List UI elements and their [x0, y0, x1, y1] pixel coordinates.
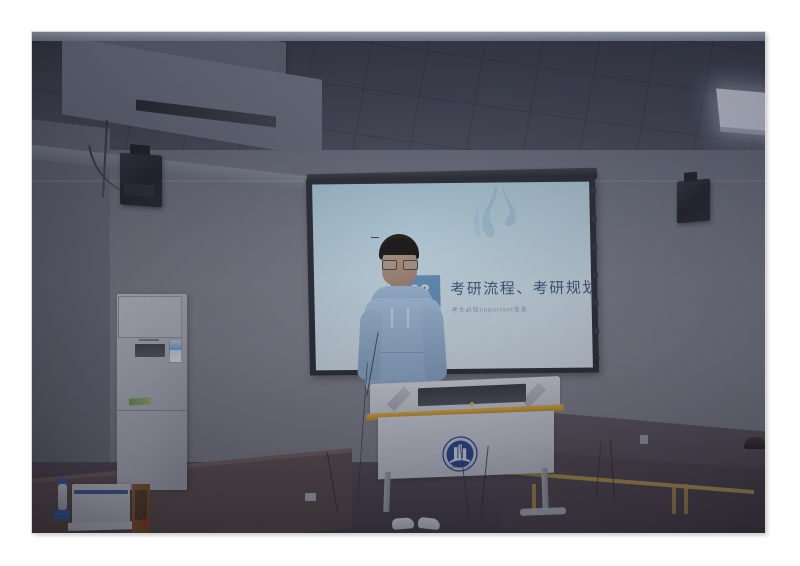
eyeglasses-icon — [382, 260, 418, 268]
air-conditioner-unit — [117, 294, 187, 490]
security-camera-icon — [744, 437, 765, 449]
hoodie-pocket — [381, 352, 423, 369]
desk-leg — [672, 484, 676, 514]
lectern: UNIVERSITY — [370, 380, 560, 480]
speaker-right — [677, 179, 710, 224]
eyeglasses-bridge — [371, 237, 379, 238]
presenter-arm-right — [421, 307, 448, 380]
lectern-leg — [541, 468, 548, 510]
air-conditioner-label-strip — [139, 339, 159, 341]
classroom-scene: 03 考研流程、考研规划 考生必知important信息 — [32, 32, 765, 533]
red-object — [142, 519, 150, 526]
slide-subtitle: 考生必知important信息 — [452, 304, 528, 314]
ceiling-top-strip — [32, 32, 765, 41]
energy-label-sticker — [169, 339, 182, 363]
desk-leg — [684, 484, 688, 514]
green-sticker — [129, 397, 151, 405]
speaker-grille-icon — [124, 183, 154, 197]
speaker-bracket-icon — [684, 172, 697, 182]
presenter — [357, 234, 449, 384]
air-conditioner-seam — [117, 410, 187, 411]
hoodie-drawstring — [407, 308, 409, 328]
left-wall — [32, 119, 110, 509]
hoodie-drawstring — [391, 308, 393, 328]
air-conditioner-display — [135, 344, 165, 357]
speaker-bracket-icon — [130, 144, 150, 155]
screen-surface: 03 考研流程、考研规划 考生必知important信息 — [312, 182, 593, 371]
photo-page: 03 考研流程、考研规划 考生必知important信息 — [0, 0, 800, 566]
ink-wash-decoration-icon — [457, 186, 538, 249]
spray-bottle — [58, 484, 67, 510]
blue-object — [54, 509, 71, 520]
photo-frame: 03 考研流程、考研规划 考生必知important信息 — [32, 32, 765, 533]
slide-title: 考研流程、考研规划 — [450, 276, 593, 299]
wooden-stand-inset — [135, 490, 147, 520]
presenter-shoe — [392, 517, 415, 530]
speaker-left — [120, 153, 162, 208]
projection-screen: 03 考研流程、考研规划 考生必知important信息 — [306, 177, 599, 376]
svg-text:UNIVERSITY: UNIVERSITY — [451, 464, 470, 469]
printer-stripe — [74, 490, 128, 494]
wall-outlet — [305, 493, 316, 501]
air-conditioner-top-vent — [118, 296, 182, 338]
wall-outlet — [640, 435, 648, 444]
